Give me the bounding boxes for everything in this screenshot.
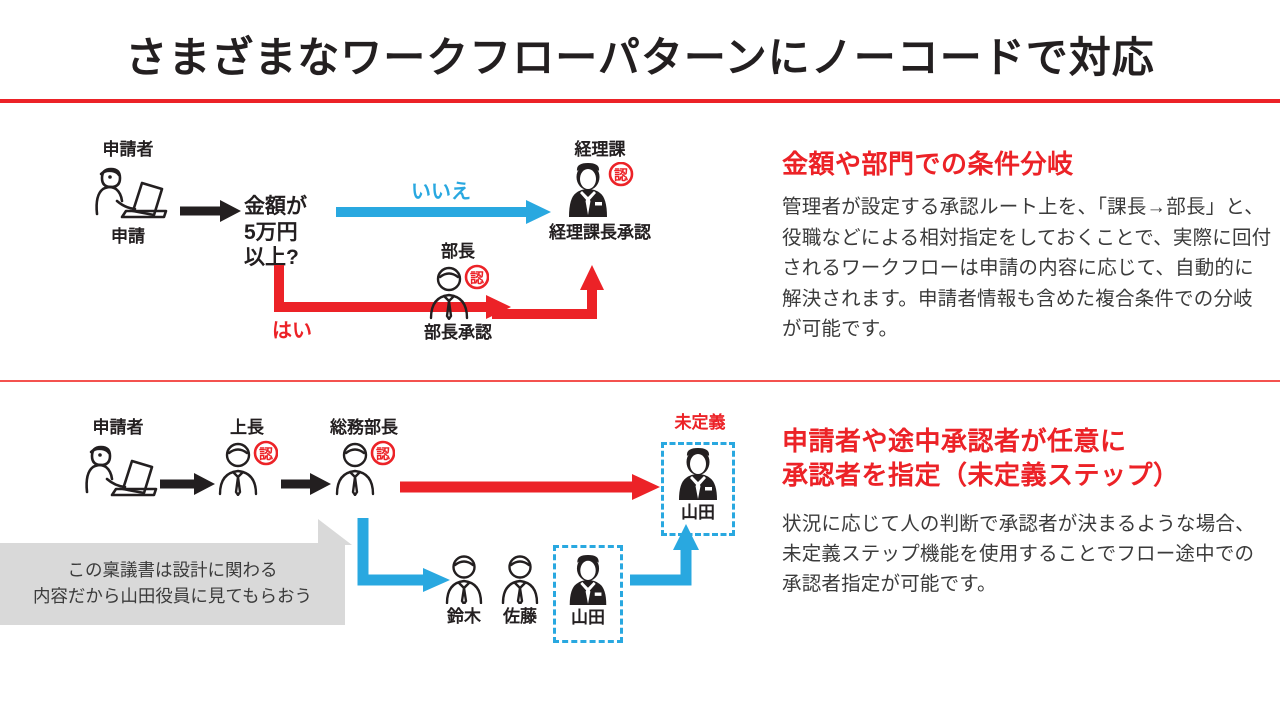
slide-canvas: さまざまなワークフローパターンにノーコードで対応 申請者 申請 金額が xyxy=(0,0,1280,720)
panel-body: 状況に応じて人の判断で承認者が決まるような場合、未定義ステップ機能を使用すること… xyxy=(782,509,1272,600)
panel-heading-line-1: 申請者や途中承認者が任意に xyxy=(782,426,1127,456)
person-filled-icon xyxy=(564,555,612,605)
node-candidate-suzuki[interactable]: 鈴木 xyxy=(435,550,493,625)
node-label-undefined: 未定義 xyxy=(640,414,760,431)
arrow-applicant-to-superior xyxy=(160,473,215,495)
speech-bubble-line-2: 内容だから山田役員に見てもらおう xyxy=(10,583,335,609)
node-sublabel: 鈴木 xyxy=(435,608,493,625)
node-candidate-yamada[interactable]: 山田 xyxy=(553,551,623,626)
speech-bubble-tail xyxy=(318,519,352,545)
speech-bubble-line-1: この稟議書は設計に関わる xyxy=(10,557,335,583)
node-sublabel: 山田 xyxy=(661,504,735,521)
arrow-superior-to-general-affairs xyxy=(281,473,331,495)
node-undefined-step[interactable]: 未定義 xyxy=(640,414,760,431)
person-filled-icon xyxy=(673,448,723,500)
panel-heading-line-2: 承認者を指定（未定義ステップ） xyxy=(782,460,1180,490)
person-outline-icon xyxy=(496,554,544,604)
node-sublabel: 佐藤 xyxy=(491,608,549,625)
panel-heading: 申請者や途中承認者が任意に 承認者を指定（未定義ステップ） xyxy=(782,424,1272,493)
panel-undefined-step: 申請者や途中承認者が任意に 承認者を指定（未定義ステップ） 状況に応じて人の判断… xyxy=(782,424,1272,600)
node-candidate-sato[interactable]: 佐藤 xyxy=(491,550,549,625)
node-undefined-step-content: 山田 xyxy=(661,444,735,521)
arrow-to-undefined-step xyxy=(400,474,660,500)
node-sublabel: 山田 xyxy=(553,609,623,626)
person-outline-icon xyxy=(440,554,488,604)
speech-bubble: この稟議書は設計に関わる 内容だから山田役員に見てもらおう xyxy=(0,543,345,625)
